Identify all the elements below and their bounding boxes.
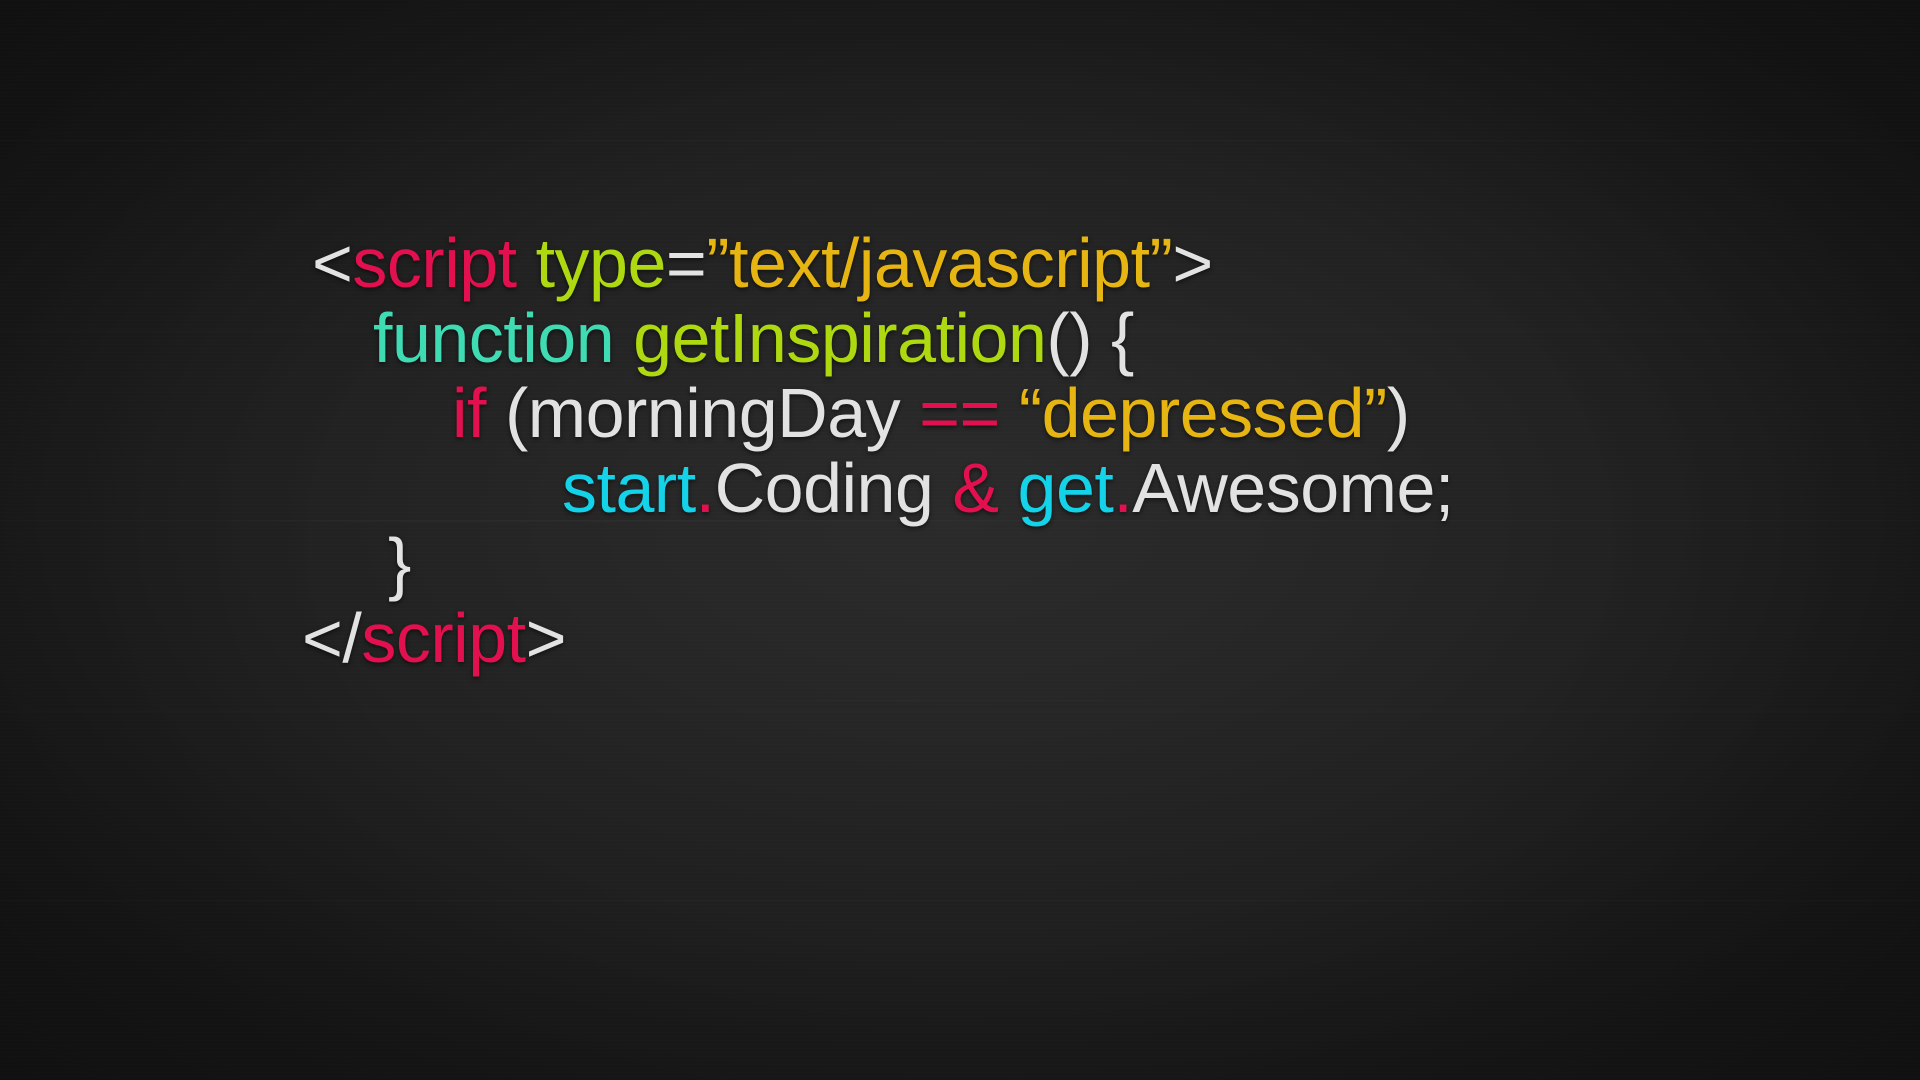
code-token-white: () {	[1046, 299, 1133, 377]
code-token-white: )	[1387, 374, 1410, 452]
code-token-crimson: ==	[919, 374, 1000, 452]
code-token-crimson: script	[361, 599, 525, 677]
code-token-white: Awesome;	[1132, 449, 1454, 527]
code-token-white: (morningDay	[486, 374, 919, 452]
code-token-crimson: .	[696, 449, 715, 527]
wallpaper-canvas: <script type=”text/javascript”>function …	[0, 0, 1920, 1080]
code-token-crimson: .	[1113, 449, 1132, 527]
code-token-white: =	[666, 224, 706, 302]
code-token-cyan: get	[999, 449, 1114, 527]
code-token-crimson: if	[452, 374, 486, 452]
code-token-white: Coding	[715, 449, 953, 527]
code-token-crimson: script	[352, 224, 516, 302]
code-token-white: }	[388, 524, 411, 602]
code-token-green: getInspiration	[633, 299, 1046, 377]
code-token-cyan: start	[562, 449, 696, 527]
code-token-white: <	[312, 224, 352, 302]
code-token-white: >	[1172, 224, 1212, 302]
code-line-6: </script>	[302, 593, 566, 683]
code-token-crimson: &	[952, 449, 998, 527]
code-token-gold: “depressed”	[1019, 374, 1387, 452]
code-token-white: >	[526, 599, 566, 677]
code-line-4: start.Coding & get.Awesome;	[562, 443, 1454, 533]
code-token-gold: ”text/javascript”	[706, 224, 1172, 302]
code-block: <script type=”text/javascript”>function …	[0, 0, 1920, 1080]
code-token-white: </	[302, 599, 361, 677]
code-token-white	[1000, 374, 1019, 452]
code-token-green: type	[517, 224, 666, 302]
code-token-teal: function	[373, 299, 633, 377]
